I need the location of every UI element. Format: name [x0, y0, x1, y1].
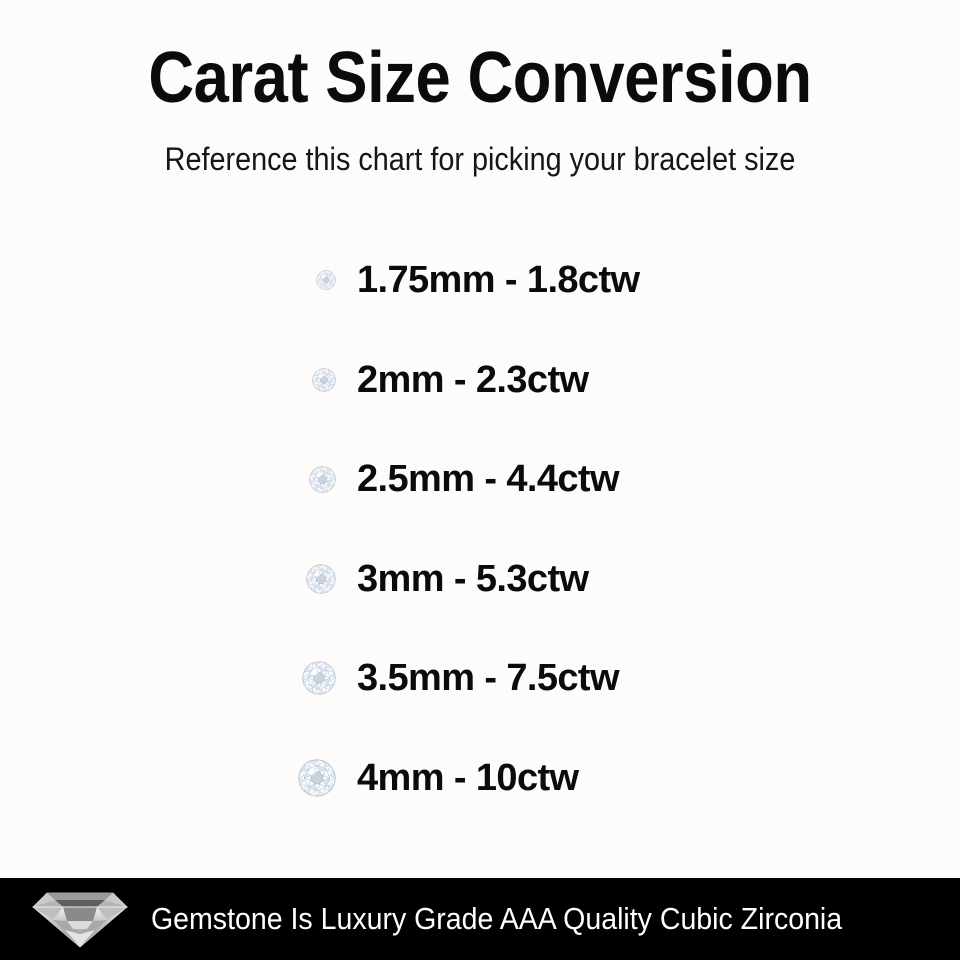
gem-icon-cell	[253, 429, 347, 529]
list-item: 2.5mm - 4.4ctw	[0, 429, 960, 529]
list-item: 2mm - 2.3ctw	[0, 330, 960, 430]
carat-size-conversion-graphic: Carat Size Conversion Reference this cha…	[0, 0, 960, 960]
list-item: 4mm - 10ctw	[0, 728, 960, 828]
gem-icon-cell	[253, 529, 347, 629]
round-brilliant-gem-icon	[298, 759, 336, 797]
gem-icon-cell	[253, 728, 347, 828]
list-item: 1.75mm - 1.8ctw	[0, 230, 960, 330]
round-brilliant-gem-icon	[302, 661, 336, 695]
gem-icon-cell	[253, 230, 347, 330]
round-brilliant-gem-icon	[312, 368, 336, 392]
size-label: 1.75mm - 1.8ctw	[357, 258, 639, 302]
size-label: 3.5mm - 7.5ctw	[357, 656, 619, 700]
footer-text: Gemstone Is Luxury Grade AAA Quality Cub…	[151, 901, 842, 937]
size-label: 3mm - 5.3ctw	[357, 557, 588, 601]
size-label: 2mm - 2.3ctw	[357, 358, 588, 402]
gem-icon-cell	[253, 628, 347, 728]
diamond-icon	[31, 890, 129, 948]
round-brilliant-gem-icon	[316, 270, 336, 290]
gem-icon-cell	[253, 330, 347, 430]
round-brilliant-gem-icon	[306, 564, 336, 594]
page-subtitle: Reference this chart for picking your br…	[48, 140, 912, 178]
list-item: 3.5mm - 7.5ctw	[0, 628, 960, 728]
list-item: 3mm - 5.3ctw	[0, 529, 960, 629]
size-label: 4mm - 10ctw	[357, 756, 579, 800]
round-brilliant-gem-icon	[309, 466, 336, 493]
size-label: 2.5mm - 4.4ctw	[357, 457, 619, 501]
footer-banner: Gemstone Is Luxury Grade AAA Quality Cub…	[0, 878, 960, 960]
page-title: Carat Size Conversion	[58, 38, 903, 118]
